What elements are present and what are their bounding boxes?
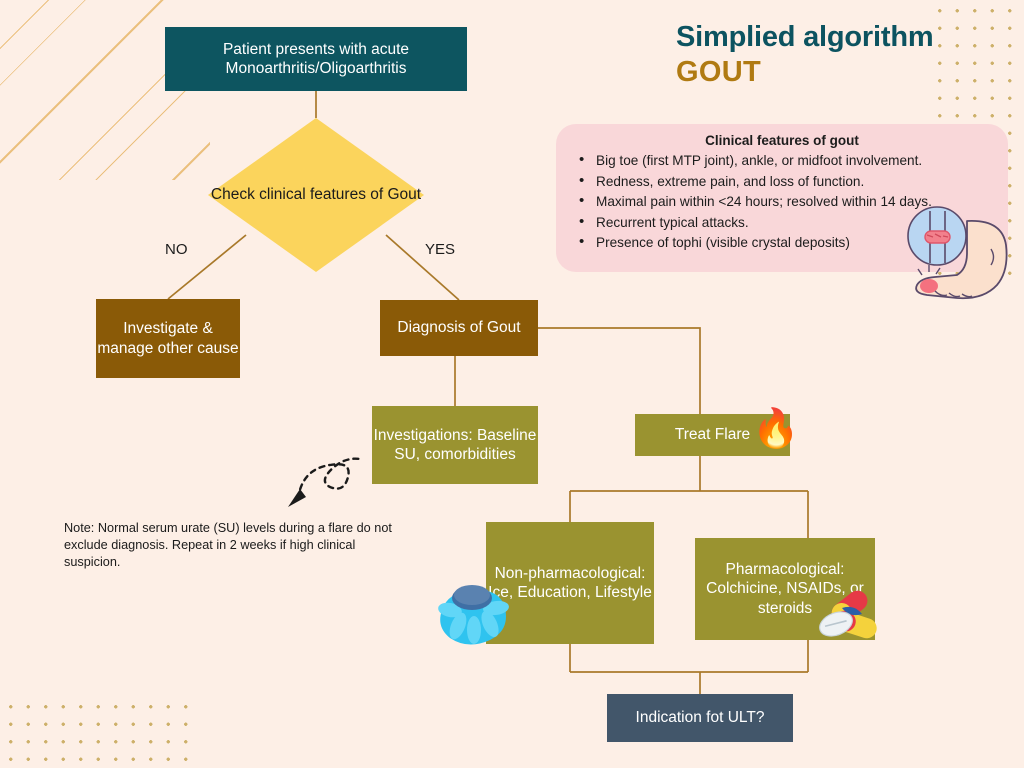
node-check-clinical-features[interactable]: Check clinical features of Gout	[208, 118, 424, 272]
branch-label-no: NO	[165, 241, 188, 258]
node-investigations[interactable]: Investigations: Baseline SU, comorbiditi…	[372, 406, 538, 484]
decision-label: Check clinical features of Gout	[208, 118, 424, 272]
node-indication-for-ult[interactable]: Indication fot ULT?	[607, 694, 793, 742]
ice-pack-icon	[434, 578, 514, 655]
inflamed-foot-icon	[905, 205, 1017, 310]
fire-icon: 🔥	[752, 410, 799, 448]
node-investigate-other-cause[interactable]: Investigate & manage other cause	[96, 299, 240, 378]
branch-label-yes: YES	[425, 241, 455, 258]
curly-arrow-icon	[276, 443, 376, 518]
node-patient-presentation[interactable]: Patient presents with acute Monoarthriti…	[165, 27, 467, 91]
node-diagnosis-of-gout[interactable]: Diagnosis of Gout	[380, 300, 538, 356]
infographic-canvas: Simplied algorithm GOUT Clinical feature…	[0, 0, 1024, 768]
pills-icon	[818, 588, 884, 649]
